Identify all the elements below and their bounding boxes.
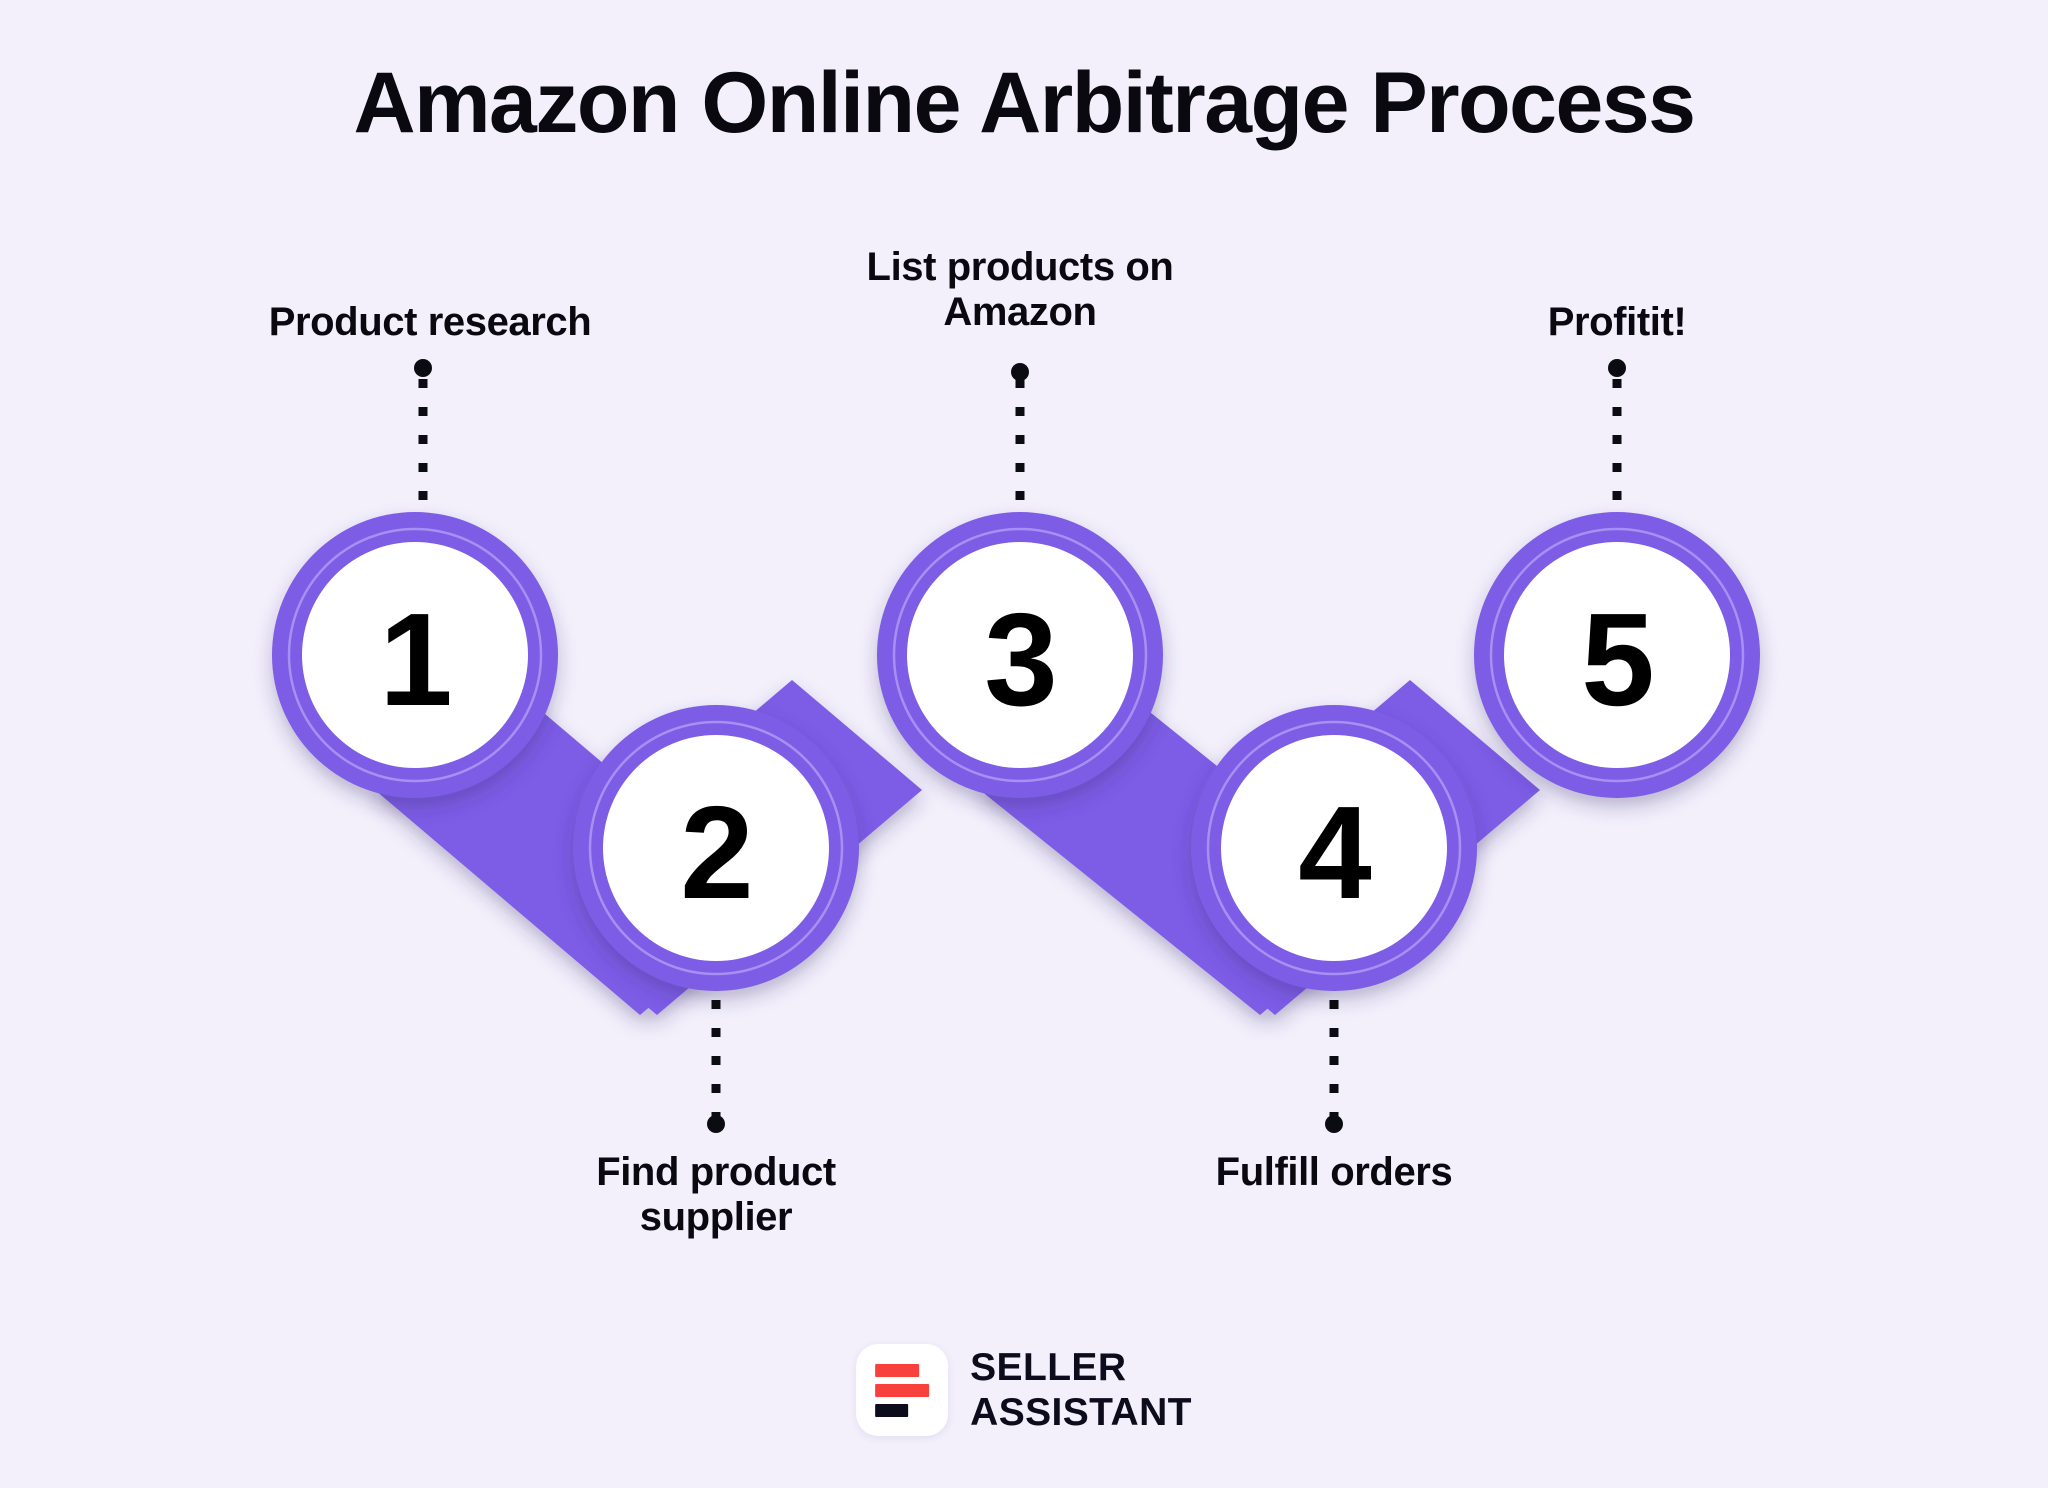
infographic-canvas: Amazon Online Arbitrage Process [0,0,2048,1488]
brand-name-line-1: SELLER [970,1345,1192,1390]
step-label-4: Fulfill orders [1104,1150,1564,1195]
step-number-5: 5 [1502,594,1732,726]
leader-dot-2 [707,1115,725,1133]
seller-assistant-logo-icon [856,1344,948,1436]
brand-lockup: SELLER ASSISTANT [856,1344,1192,1436]
step-number-2: 2 [601,787,831,919]
step-label-3: List products on Amazon [790,245,1250,335]
logo-bar-top [875,1364,919,1377]
step-number-4: 4 [1219,787,1449,919]
page-title: Amazon Online Arbitrage Process [0,56,2048,151]
step-label-5: Profitit! [1387,300,1847,345]
step-label-2: Find product supplier [486,1150,946,1240]
leader-dot-5 [1608,359,1626,377]
step-label-1: Product research [200,300,660,345]
logo-bar-bottom [875,1404,908,1417]
brand-name-line-2: ASSISTANT [970,1390,1192,1435]
process-chain-graphic [0,0,2048,1488]
leader-lines [414,359,1626,1133]
leader-dot-1 [414,359,432,377]
leader-dot-3 [1011,363,1029,381]
leader-dot-4 [1325,1115,1343,1133]
step-number-1: 1 [300,594,530,726]
step-number-3: 3 [905,594,1135,726]
logo-bar-middle [875,1384,929,1397]
brand-name: SELLER ASSISTANT [970,1345,1192,1435]
